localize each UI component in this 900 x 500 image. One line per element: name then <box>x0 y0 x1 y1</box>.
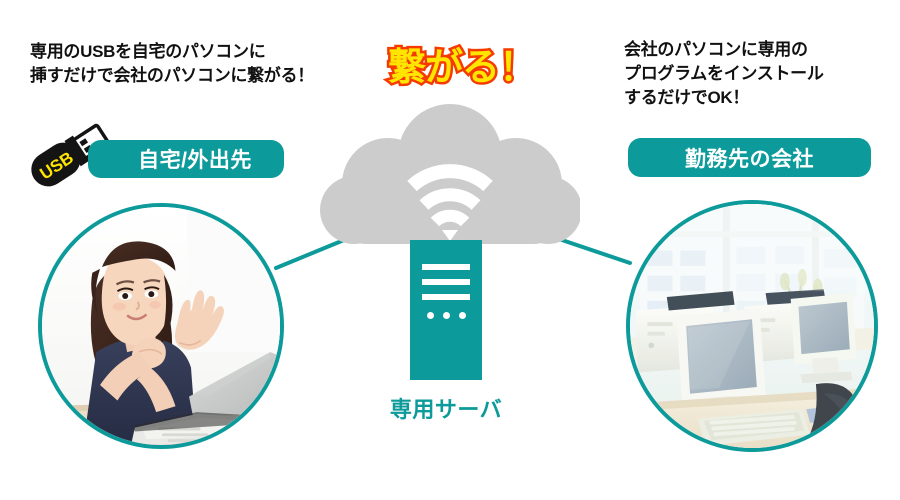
office-photo-circle <box>626 200 878 452</box>
server-label: 専用サーバ <box>380 392 512 424</box>
woman-at-laptop-photo <box>42 207 280 445</box>
server-bar <box>422 279 470 285</box>
server-bar <box>422 264 470 270</box>
server-bar <box>422 294 470 300</box>
label-office: 勤務先の会社 <box>628 138 871 177</box>
diagram-canvas: 専用サーバ <box>0 0 900 500</box>
server-led <box>443 312 450 319</box>
label-home-text: 自宅/外出先 <box>138 144 252 174</box>
server-led <box>459 312 466 319</box>
label-office-text: 勤務先の会社 <box>685 143 814 173</box>
server-tower-icon <box>410 240 482 380</box>
label-home: 自宅/外出先 <box>88 140 284 178</box>
caption-left: 専用のUSBを自宅のパソコンに 挿すだけで会社のパソコンに繋がる！ <box>30 40 314 88</box>
caption-right: 会社のパソコンに専用の プログラムをインストール するだけでOK！ <box>624 38 824 110</box>
office-desktop-computers-photo <box>630 204 874 448</box>
home-photo-circle <box>38 203 284 449</box>
server-led <box>427 312 434 319</box>
headline-tsunagaru: 繋がる！ <box>388 36 536 91</box>
